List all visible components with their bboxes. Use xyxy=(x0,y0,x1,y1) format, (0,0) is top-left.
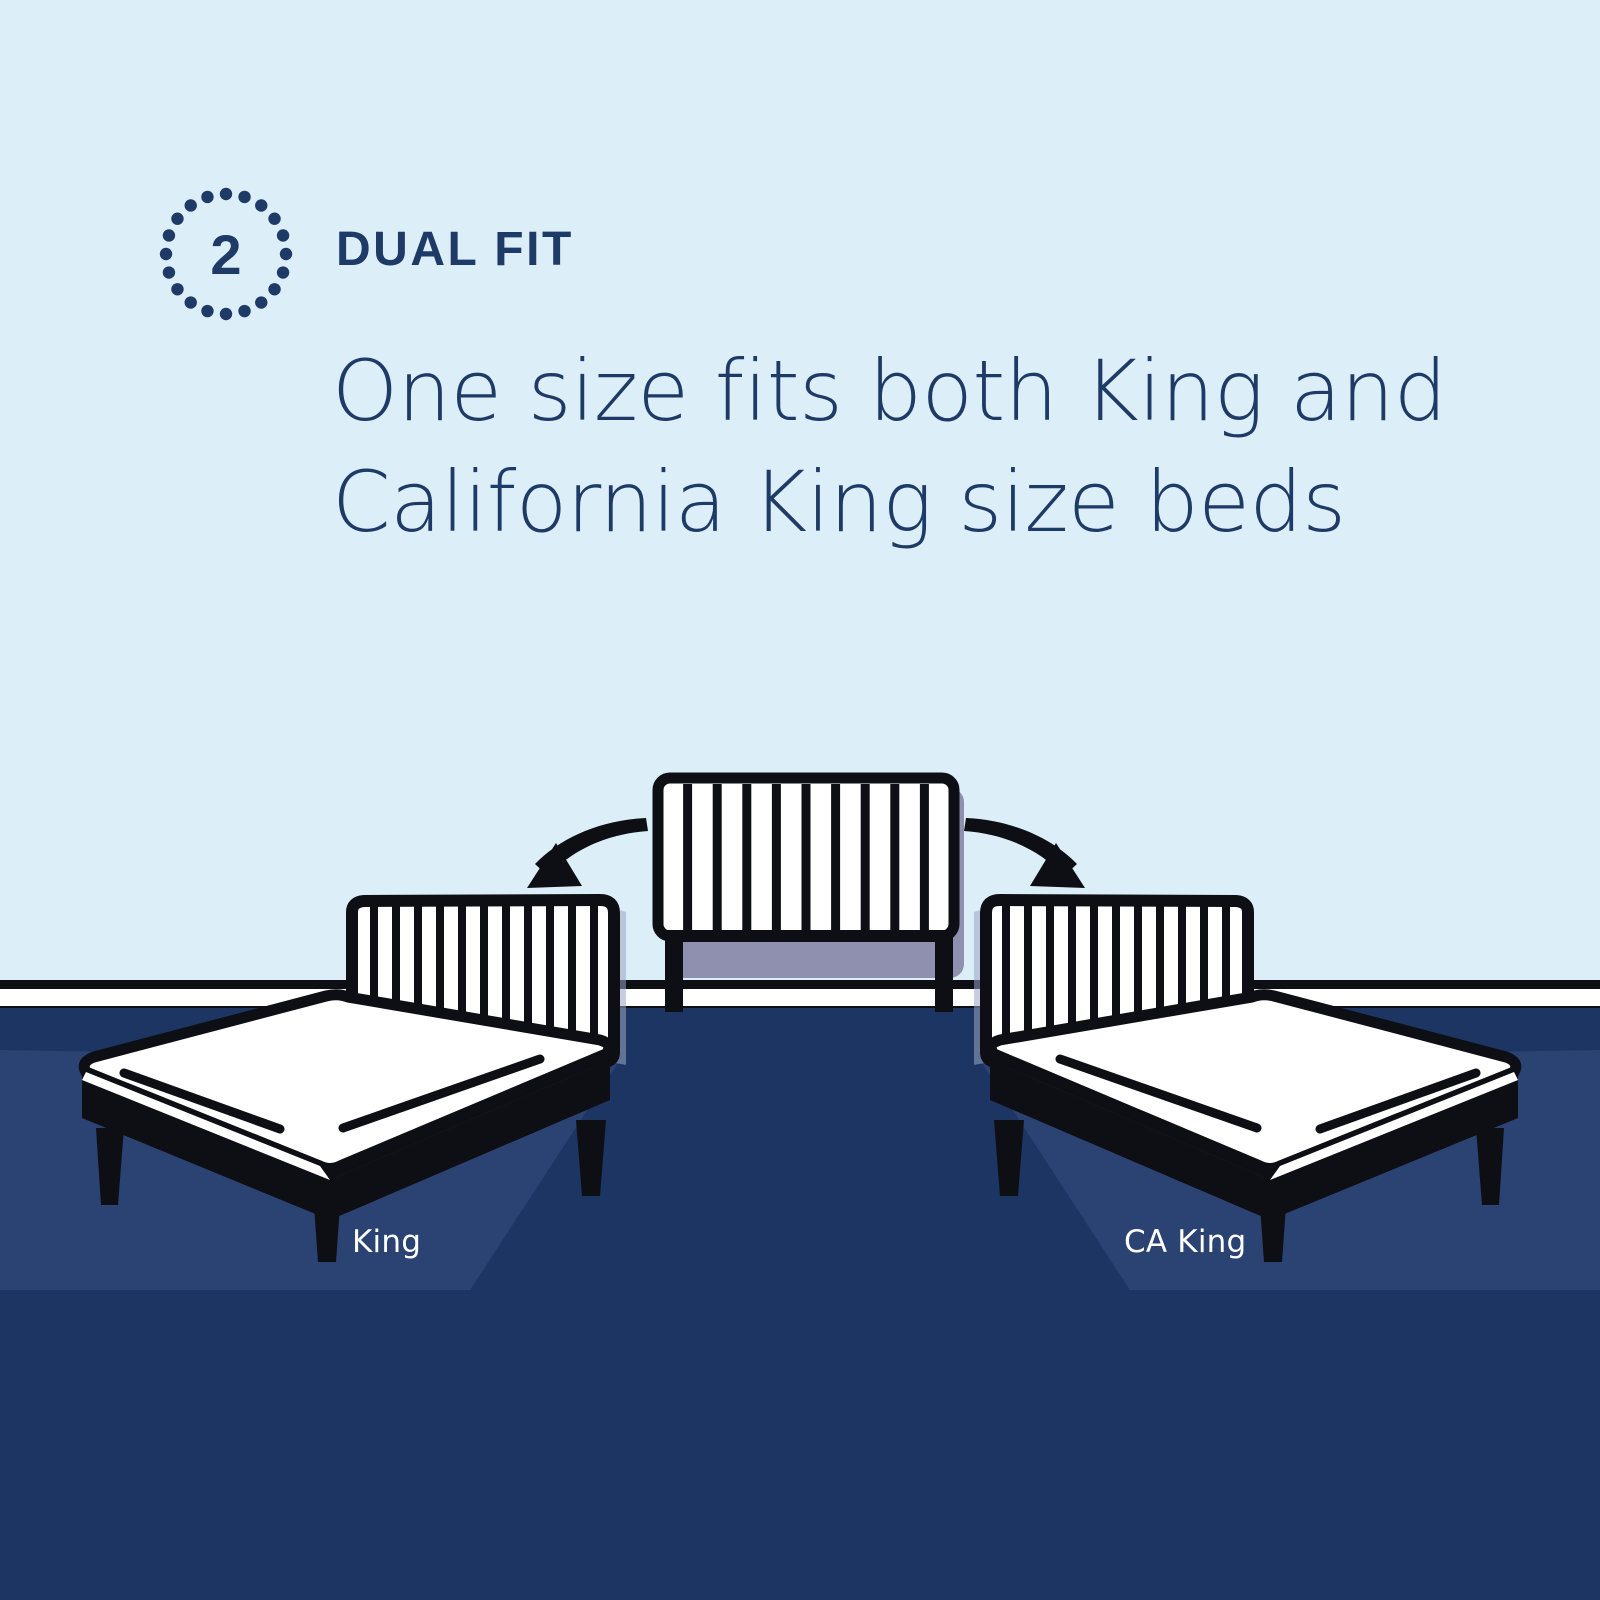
section-kicker: DUAL FIT xyxy=(336,222,574,277)
headline-line-1: One size fits both King and xyxy=(332,336,1512,447)
headline: One size fits both King and California K… xyxy=(332,336,1512,558)
wall-edge-line xyxy=(0,980,1600,989)
baseboard-trim xyxy=(0,989,1600,1008)
headboard-leg-left xyxy=(665,930,683,1012)
bed-label-ca-king: CA King xyxy=(1124,1224,1246,1260)
step-badge: 2 xyxy=(158,186,294,322)
infographic-canvas: 2 DUAL FIT One size fits both King and C… xyxy=(0,0,1600,1600)
step-badge-number: 2 xyxy=(158,186,294,322)
headline-line-2: California King size beds xyxy=(332,447,1512,558)
headboard-leg-right xyxy=(935,930,953,1012)
bed-label-king: King xyxy=(352,1224,421,1260)
channel-tufted-headboard xyxy=(658,778,964,1012)
headboard-rail xyxy=(665,930,953,942)
